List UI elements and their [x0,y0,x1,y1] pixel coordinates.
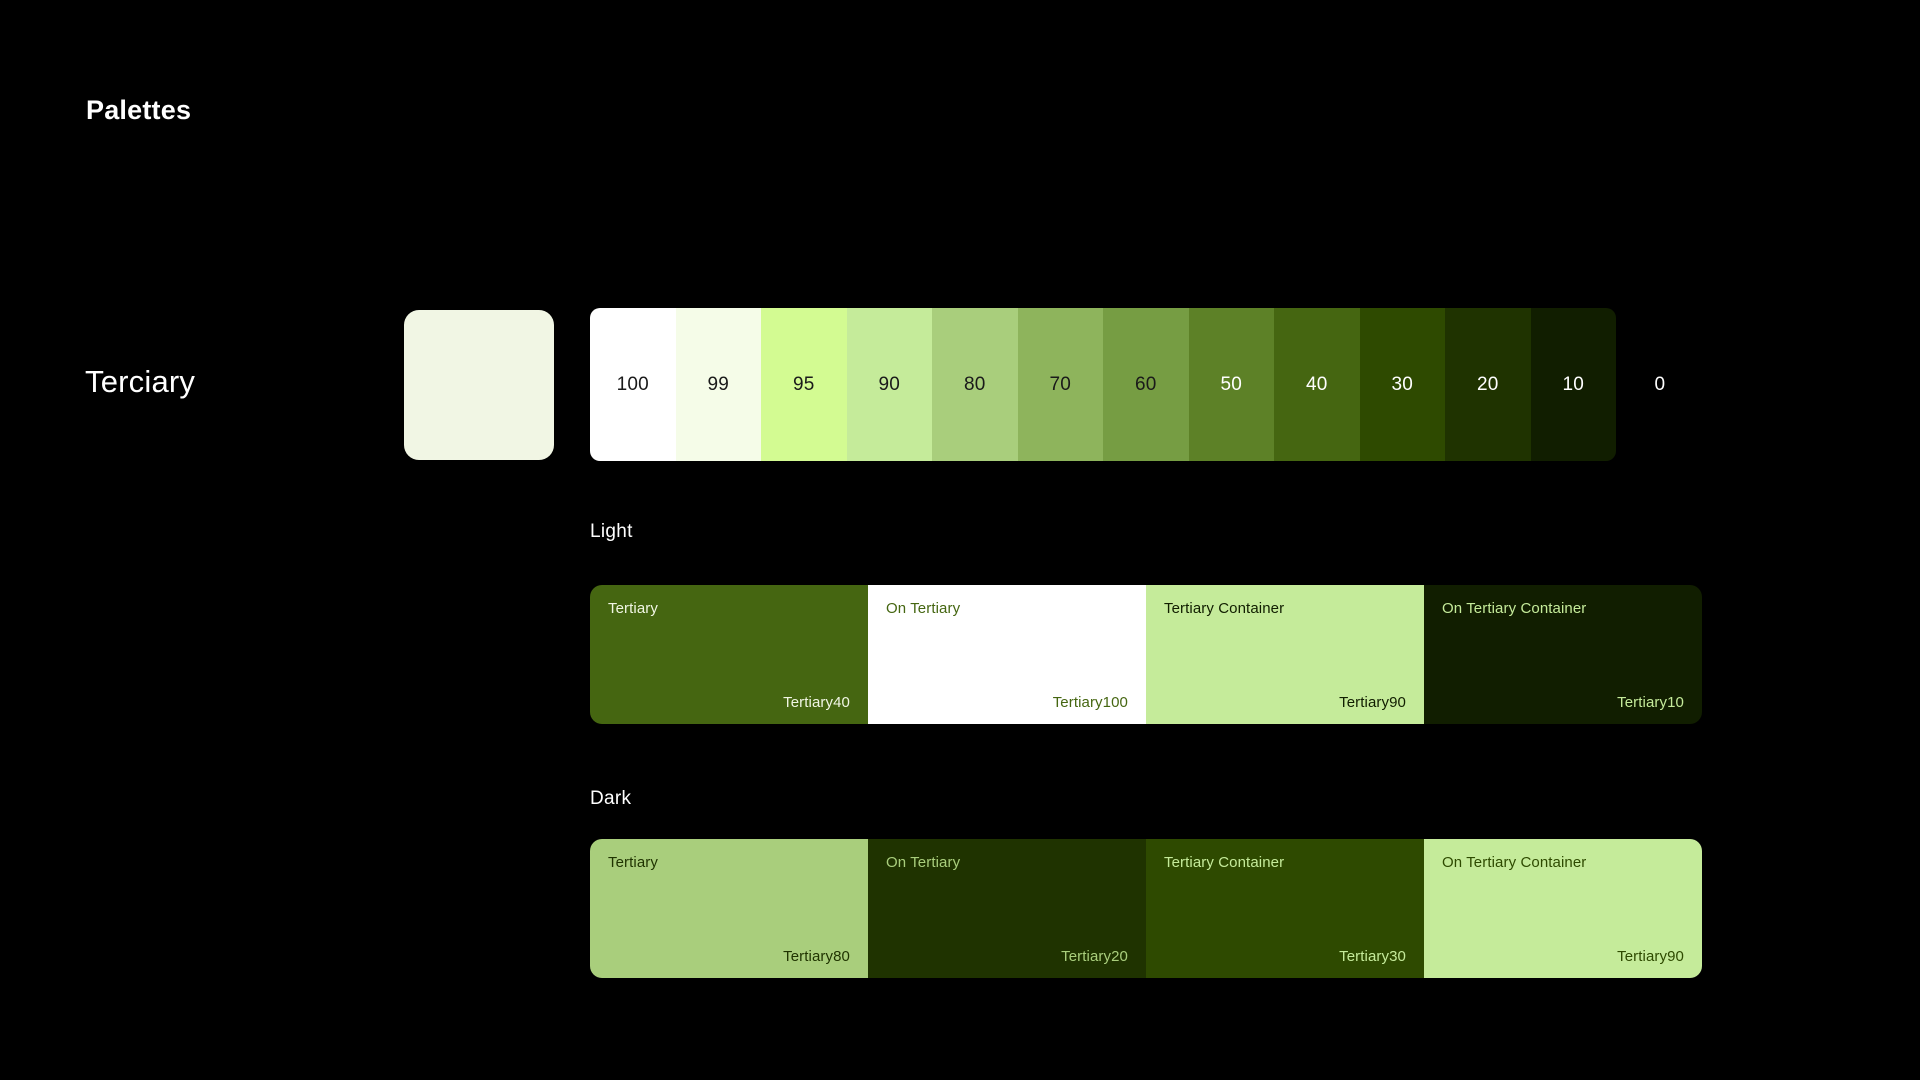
role-row-dark: TertiaryTertiary80On TertiaryTertiary20T… [590,839,1702,978]
role-token: Tertiary100 [1053,694,1128,711]
role-token: Tertiary40 [783,694,850,711]
tone-label: 20 [1477,374,1499,396]
tone-label: 10 [1562,374,1584,396]
role-label: Tertiary [608,600,850,617]
tone-swatch-20[interactable]: 20 [1445,308,1531,461]
role-label: On Tertiary [886,600,1128,617]
role-card[interactable]: Tertiary ContainerTertiary90 [1146,585,1424,724]
role-label: Tertiary [608,854,850,871]
role-label: On Tertiary [886,854,1128,871]
role-token: Tertiary30 [1339,948,1406,965]
page-title: Palettes [86,95,191,126]
tone-swatch-30[interactable]: 30 [1360,308,1446,461]
role-card[interactable]: On Tertiary ContainerTertiary10 [1424,585,1702,724]
tone-swatch-60[interactable]: 60 [1103,308,1189,461]
tone-label: 0 [1654,374,1665,396]
role-card[interactable]: On TertiaryTertiary100 [868,585,1146,724]
tone-swatch-99[interactable]: 99 [676,308,762,461]
role-card[interactable]: On Tertiary ContainerTertiary90 [1424,839,1702,978]
palette-name: Terciary [85,364,195,400]
tone-swatch-10[interactable]: 10 [1531,308,1617,461]
tone-swatch-95[interactable]: 95 [761,308,847,461]
tone-swatch-90[interactable]: 90 [847,308,933,461]
role-label: On Tertiary Container [1442,854,1684,871]
tone-label: 60 [1135,374,1157,396]
tone-swatch-0[interactable]: 0 [1617,308,1703,461]
tone-swatch-50[interactable]: 50 [1189,308,1275,461]
tone-label: 100 [617,374,649,396]
tone-label: 80 [964,374,986,396]
tone-swatch-80[interactable]: 80 [932,308,1018,461]
role-card[interactable]: Tertiary ContainerTertiary30 [1146,839,1424,978]
scheme-title-dark: Dark [590,788,631,810]
tone-swatch-70[interactable]: 70 [1018,308,1104,461]
role-label: Tertiary Container [1164,854,1406,871]
role-token: Tertiary20 [1061,948,1128,965]
role-token: Tertiary10 [1617,694,1684,711]
tone-label: 70 [1049,374,1071,396]
tone-label: 30 [1391,374,1413,396]
role-token: Tertiary90 [1339,694,1406,711]
tone-label: 50 [1220,374,1242,396]
role-card[interactable]: TertiaryTertiary80 [590,839,868,978]
role-label: On Tertiary Container [1442,600,1684,617]
tonal-palette-strip: 1009995908070605040302010 [590,308,1616,461]
role-row-light: TertiaryTertiary40On TertiaryTertiary100… [590,585,1702,724]
role-token: Tertiary90 [1617,948,1684,965]
tone-label: 95 [793,374,815,396]
tone-swatch-100[interactable]: 100 [590,308,676,461]
tone-label: 90 [878,374,900,396]
tone-label: 40 [1306,374,1328,396]
role-card[interactable]: On TertiaryTertiary20 [868,839,1146,978]
role-card[interactable]: TertiaryTertiary40 [590,585,868,724]
tone-label: 99 [707,374,729,396]
tone-swatch-40[interactable]: 40 [1274,308,1360,461]
palette-preview-swatch [404,310,554,460]
palette-page: Palettes Terciary 1009995908070605040302… [0,0,1920,1080]
role-label: Tertiary Container [1164,600,1406,617]
scheme-title-light: Light [590,521,633,543]
role-token: Tertiary80 [783,948,850,965]
